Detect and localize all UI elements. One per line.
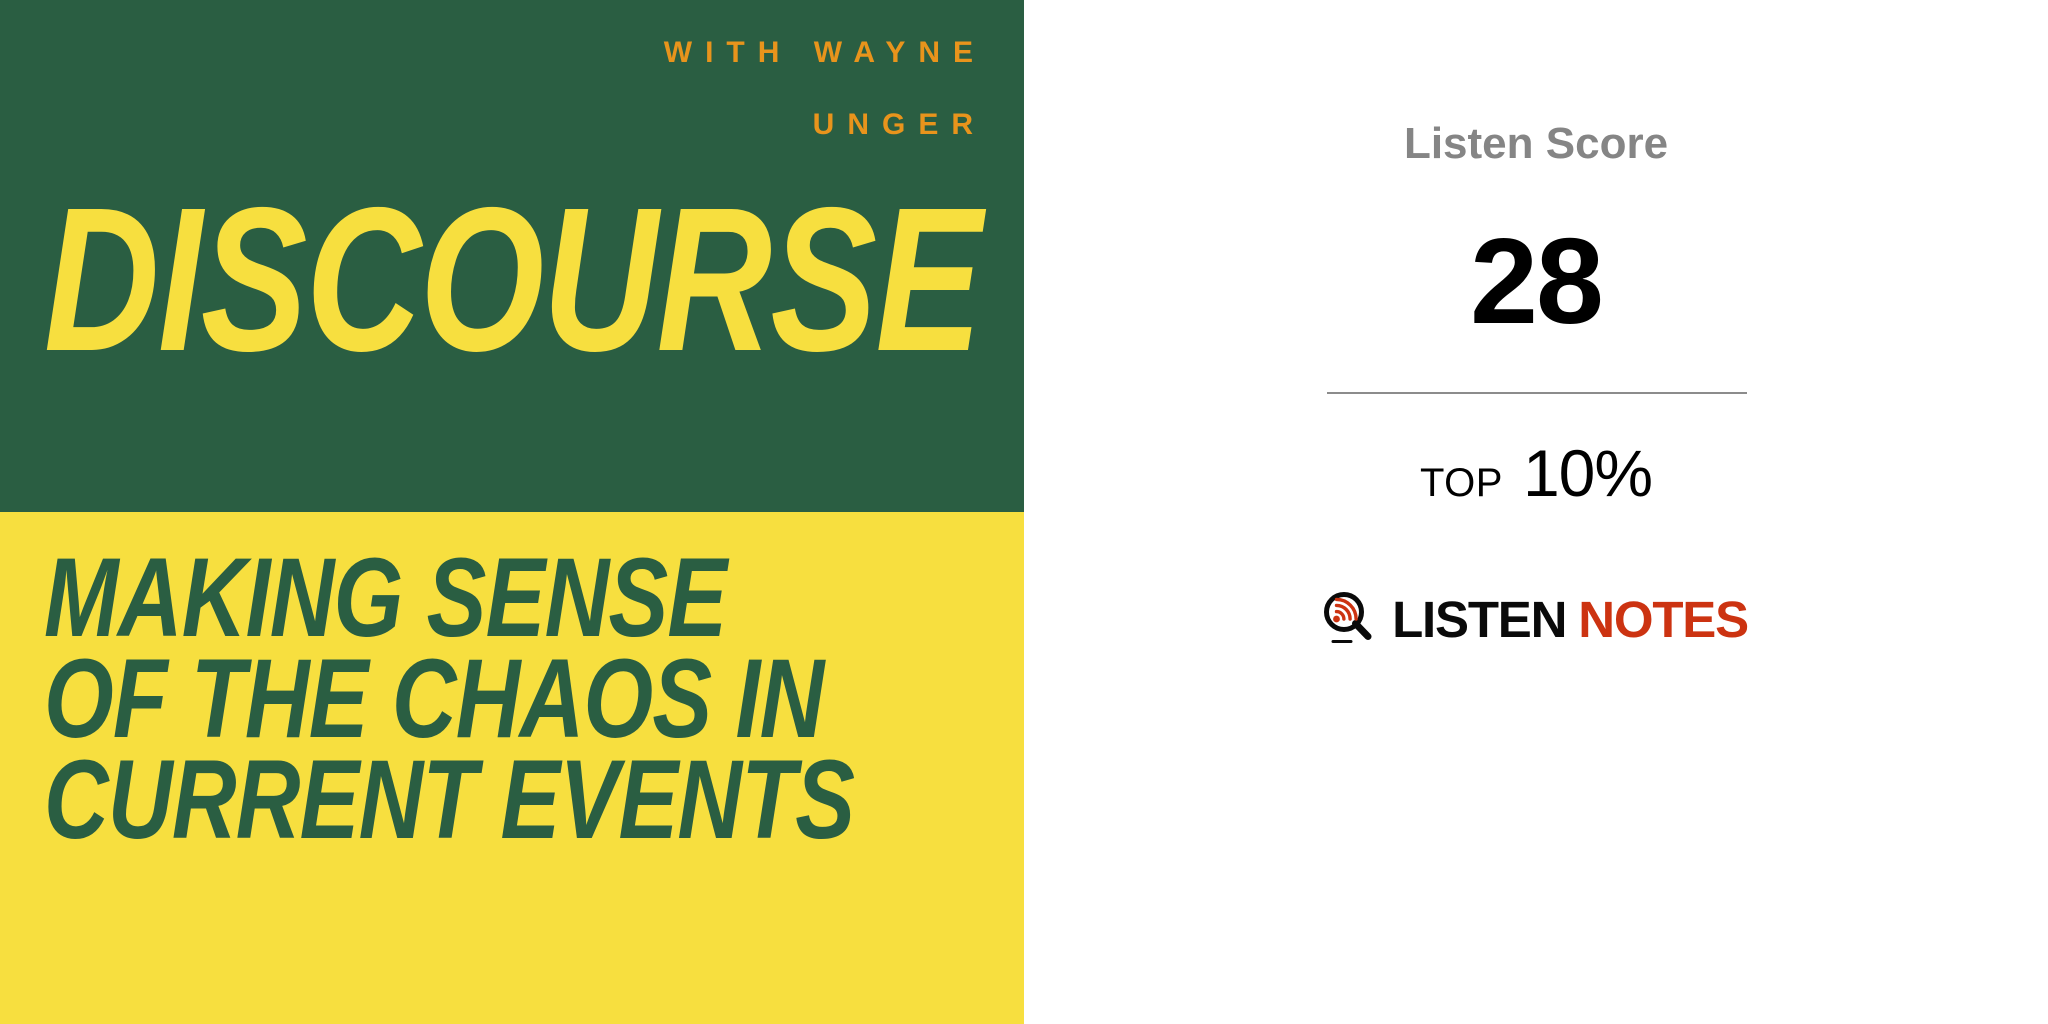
score-divider (1327, 392, 1747, 394)
listen-score-label: Listen Score (1305, 122, 1767, 166)
listen-score-card: WITH WAYNE UNGER DISCOURSE MAKING SENSE … (0, 0, 2048, 1024)
listen-score-rank: TOP 10% (1305, 440, 1767, 506)
listen-notes-wordmark: LISTENNOTES (1392, 594, 1748, 645)
listen-notes-magnifier-rss-icon (1324, 592, 1374, 646)
cover-subtitle: MAKING SENSE OF THE CHAOS IN CURRENT EVE… (44, 548, 924, 850)
cover-show-title: DISCOURSE (44, 186, 793, 375)
cover-host-line-2: UNGER (813, 110, 986, 140)
listen-score-content: Listen Score 28 TOP 10% (1305, 0, 1767, 1024)
listen-score-value: 28 (1305, 220, 1767, 342)
cover-subtitle-line-3: CURRENT EVENTS (44, 750, 924, 851)
listen-score-panel: Listen Score 28 TOP 10% (1024, 0, 2048, 1024)
cover-host-line-1: WITH WAYNE (664, 38, 986, 68)
podcast-cover-art: WITH WAYNE UNGER DISCOURSE MAKING SENSE … (0, 0, 1024, 1024)
cover-subtitle-line-1: MAKING SENSE (44, 548, 924, 649)
listen-notes-word-listen: LISTEN (1392, 591, 1566, 648)
rank-prefix-label: TOP (1420, 463, 1503, 503)
cover-subtitle-line-2: OF THE CHAOS IN (44, 649, 924, 750)
rank-percentile-value: 10% (1523, 440, 1652, 506)
listen-notes-word-notes: NOTES (1578, 591, 1748, 648)
listen-notes-logo[interactable]: LISTENNOTES (1305, 592, 1767, 646)
